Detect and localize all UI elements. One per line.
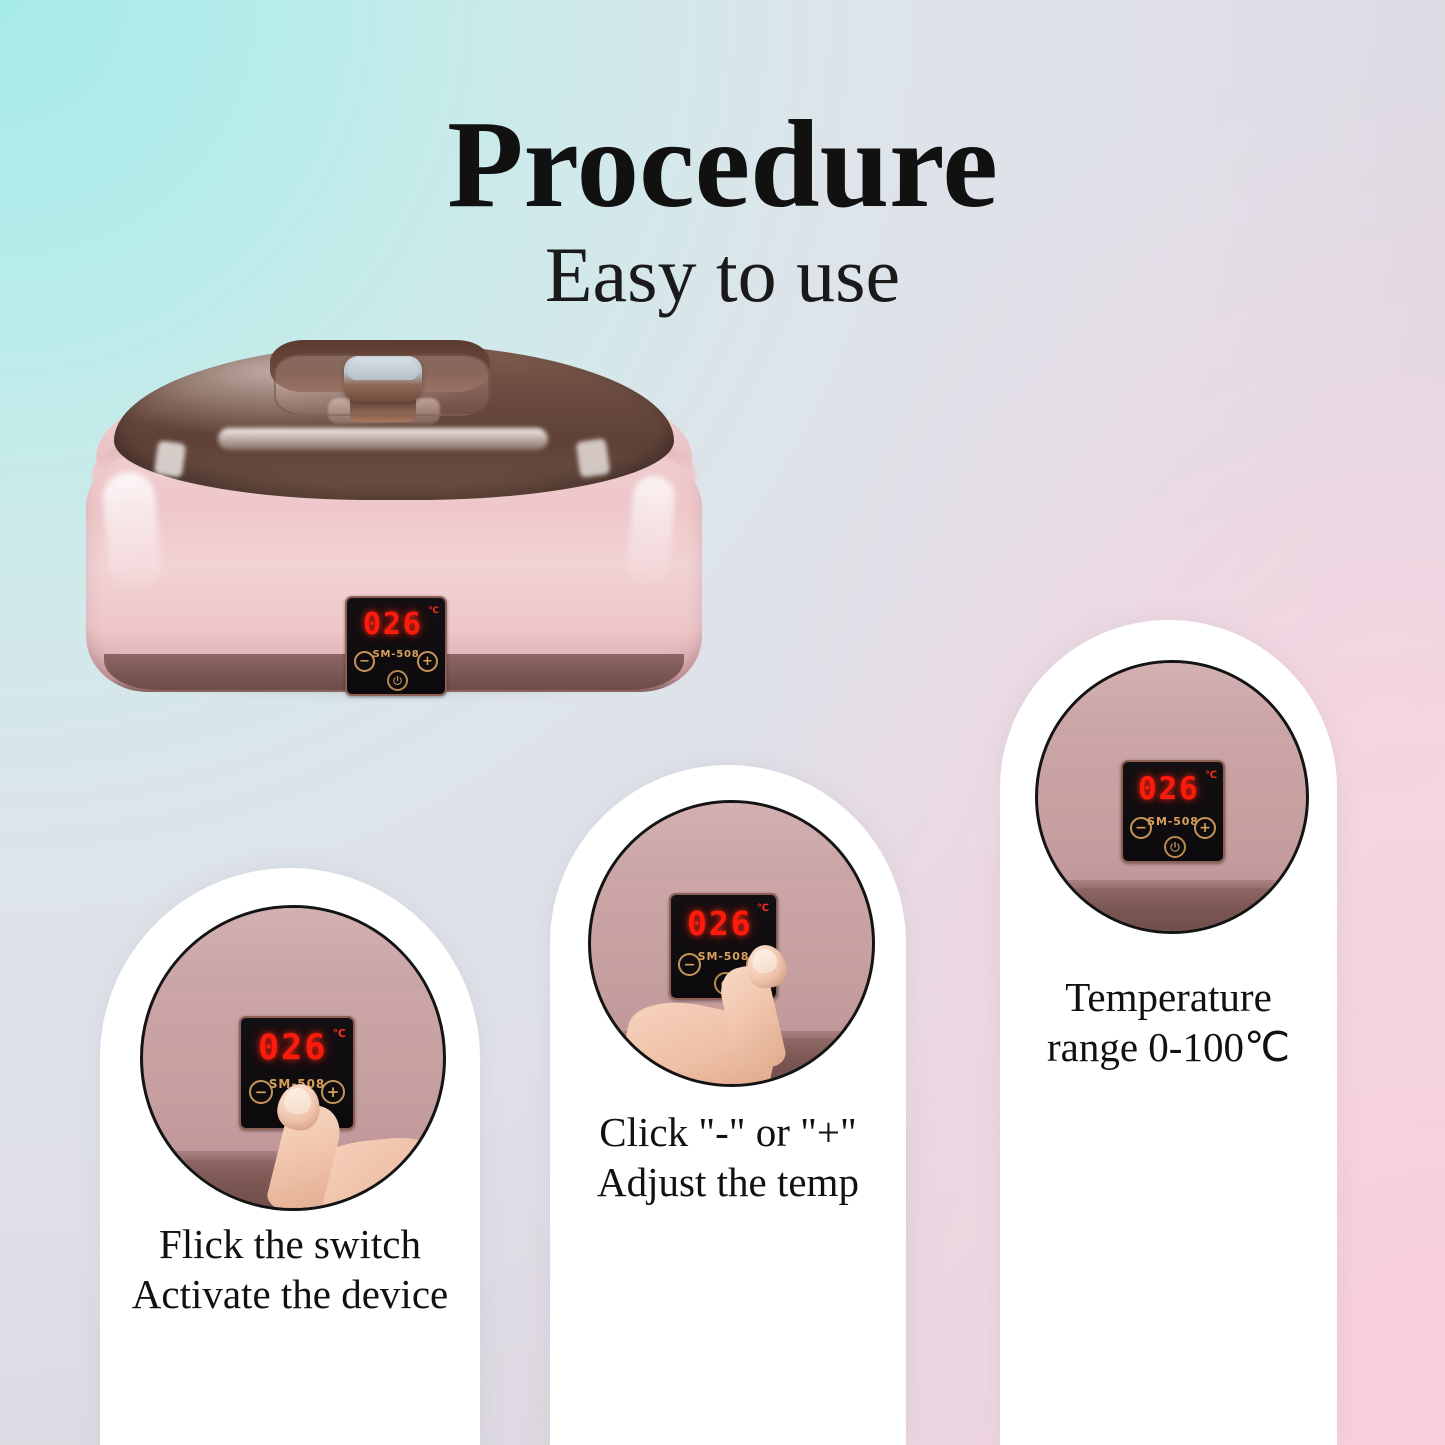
- infographic-canvas: Procedure Easy to use ℃ 026 SM-508 − +: [0, 0, 1445, 1445]
- celsius-icon: ℃: [1205, 771, 1217, 781]
- lid-rim-light-left: [154, 440, 186, 478]
- step-1-caption-line1: Flick the switch: [100, 1219, 480, 1269]
- step-3-control-panel[interactable]: ℃ 026 SM-508 − +: [1121, 760, 1225, 863]
- step-3-caption-line1: Temperature: [1000, 972, 1337, 1022]
- device-wall-band: [143, 908, 443, 989]
- device-wall-band: [1038, 663, 1306, 735]
- device-base-shadow: [1038, 888, 1306, 931]
- pointing-finger-plus: [631, 948, 821, 1087]
- step-2-zoom-circle: ℃ 026 SM-508 − +: [588, 800, 875, 1087]
- lid-rim-light-right: [576, 438, 611, 478]
- power-icon: [392, 675, 403, 686]
- celsius-icon: ℃: [757, 904, 769, 914]
- lid-handle-knob-top: [348, 358, 418, 380]
- celsius-icon: ℃: [428, 607, 439, 616]
- celsius-icon: ℃: [333, 1028, 346, 1039]
- temperature-display: 026: [363, 610, 423, 640]
- device-base-edge: [1038, 880, 1306, 888]
- hero-control-panel[interactable]: ℃ 026 SM-508 − +: [345, 596, 447, 696]
- temperature-display: 026: [258, 1031, 328, 1066]
- device-wall-band: [591, 803, 872, 879]
- power-button[interactable]: [1164, 836, 1186, 858]
- page-title: Procedure: [0, 103, 1445, 228]
- temperature-display: 026: [687, 907, 753, 940]
- step-1-caption: Flick the switch Activate the device: [100, 1219, 480, 1319]
- power-button[interactable]: [387, 670, 408, 691]
- step-3-caption: Temperature range 0-100℃: [1000, 972, 1337, 1072]
- minus-button[interactable]: −: [354, 651, 375, 672]
- minus-button[interactable]: −: [249, 1080, 273, 1104]
- step-1-zoom-circle: ℃ 026 SM-508 − +: [140, 905, 446, 1211]
- plus-button[interactable]: +: [1194, 817, 1216, 839]
- plus-button[interactable]: +: [417, 651, 438, 672]
- step-3-caption-line2: range 0-100℃: [1000, 1022, 1337, 1072]
- step-3-zoom-circle: ℃ 026 SM-508 − +: [1035, 660, 1309, 934]
- pointing-finger-power: [271, 1086, 446, 1211]
- step-2-caption-line1: Click "-" or "+": [550, 1107, 906, 1157]
- page-subtitle: Easy to use: [0, 236, 1445, 314]
- lid-highlight: [218, 428, 548, 450]
- temperature-display: 026: [1138, 774, 1200, 805]
- step-2-caption: Click "-" or "+" Adjust the temp: [550, 1107, 906, 1207]
- minus-button[interactable]: −: [1130, 817, 1152, 839]
- step-1-caption-line2: Activate the device: [100, 1269, 480, 1319]
- step-2-caption-line2: Adjust the temp: [550, 1157, 906, 1207]
- power-icon: [1169, 841, 1181, 853]
